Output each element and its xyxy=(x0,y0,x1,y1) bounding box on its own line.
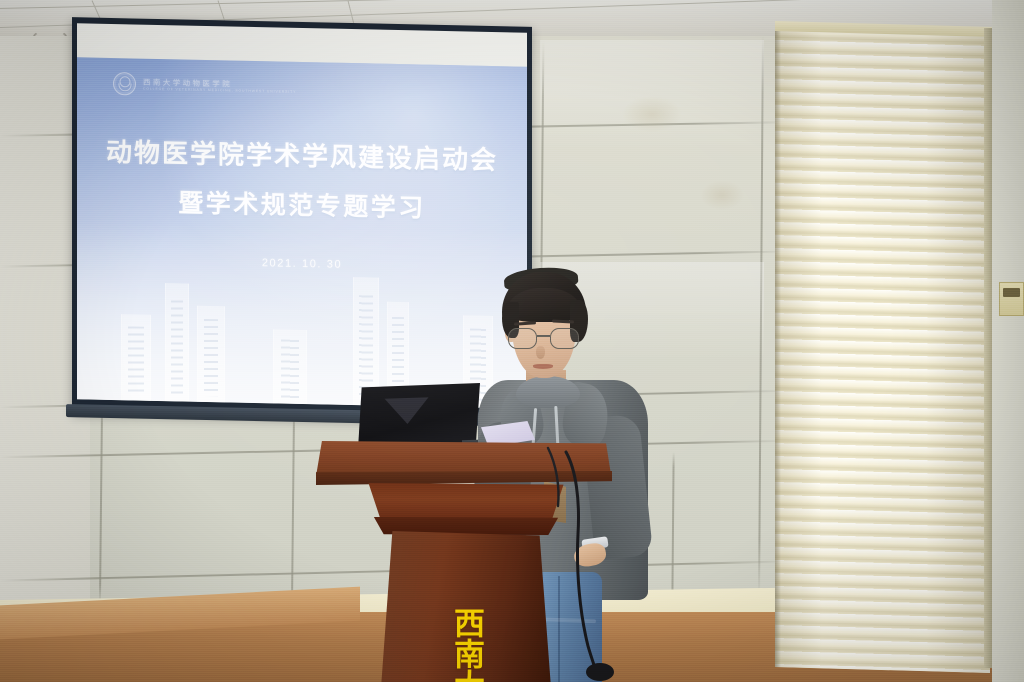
wall-outlet-box[interactable] xyxy=(999,282,1024,316)
slide-org-logo: 西南大学动物医学院 COLLEGE OF VETERINARY MEDICINE… xyxy=(113,72,296,99)
eyeglass-bridge xyxy=(537,335,550,337)
wall-stain xyxy=(622,96,682,132)
lectern-top-edge xyxy=(316,471,612,485)
mouth xyxy=(533,364,553,369)
slide-title-line2: 暨学术规范专题学习 xyxy=(77,181,527,226)
lectern-neck xyxy=(360,483,572,523)
presentation-slide: 西南大学动物医学院 COLLEGE OF VETERINARY MEDICINE… xyxy=(77,57,527,408)
lectern[interactable]: 西南大 xyxy=(308,441,620,682)
eyeglass-lens-left xyxy=(508,328,537,349)
wall-right-strip xyxy=(992,0,1024,682)
slide-building xyxy=(353,277,379,406)
hood-collar xyxy=(516,376,580,408)
projection-screen-surface: 西南大学动物医学院 COLLEGE OF VETERINARY MEDICINE… xyxy=(77,23,527,408)
slide-building xyxy=(121,314,151,401)
slide-title-line1: 动物医学院学术学风建设启动会 xyxy=(77,131,527,177)
shutter-left-edge xyxy=(775,27,781,667)
eyeglass-lens-right xyxy=(550,328,579,349)
nose xyxy=(536,346,545,359)
slide-building xyxy=(165,283,189,402)
projection-screen[interactable]: 西南大学动物医学院 COLLEGE OF VETERINARY MEDICINE… xyxy=(72,17,532,423)
slide-building xyxy=(197,306,225,403)
university-seal-icon xyxy=(113,72,136,95)
photo-scene: 西南大学动物医学院 COLLEGE OF VETERINARY MEDICINE… xyxy=(0,0,1024,682)
wall-outlet-slot xyxy=(1003,288,1020,297)
laptop-logo-icon xyxy=(385,397,430,425)
lectern-inscription: 西南大 xyxy=(420,593,484,682)
roller-shutter[interactable] xyxy=(775,27,990,673)
eyeglasses-icon xyxy=(506,328,584,350)
wall-stain xyxy=(700,180,744,210)
slide-building xyxy=(273,329,307,404)
shutter-shading xyxy=(775,27,990,673)
